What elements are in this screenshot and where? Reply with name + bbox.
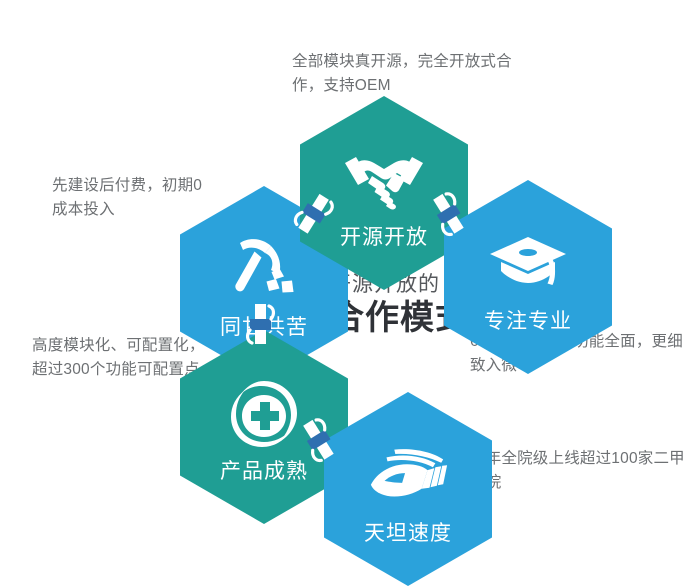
- hex-cell-speed[interactable]: 天坦速度: [324, 392, 492, 586]
- high-speed-train-icon: [365, 439, 451, 513]
- connector-clip-top-left: [286, 186, 342, 242]
- hex-label-professional: 专注专业: [484, 311, 572, 332]
- note-open-source: 全部模块真开源，完全开放式合作，支持OEM: [292, 50, 522, 98]
- connector-clip-bottom-left: [290, 412, 346, 468]
- hex-label-speed: 天坦速度: [364, 523, 452, 544]
- note-hospital-deployments: 单年全院级上线超过100家二甲医院: [470, 447, 685, 495]
- graduation-cap-icon: [485, 227, 571, 301]
- note-modular-configurable: 高度模块化、可配置化，超过300个功能可配置点: [32, 334, 207, 382]
- connector-clip-left-vertical: [232, 296, 288, 352]
- connector-clip-top-right: [420, 186, 476, 242]
- infographic-canvas: 全部模块真开源，完全开放式合作，支持OEM 先建设后付费，初期0成本投入 高度模…: [0, 0, 696, 566]
- handshake-icon: [341, 143, 427, 217]
- hex-label-open-source: 开源开放: [340, 227, 428, 248]
- note-build-first-pay-later: 先建设后付费，初期0成本投入: [52, 174, 212, 222]
